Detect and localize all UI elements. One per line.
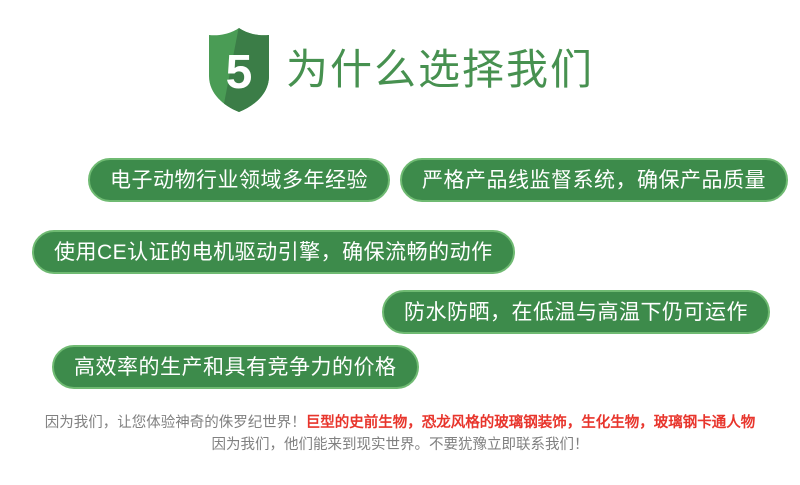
- feature-pill: 严格产品线监督系统，确保产品质量: [400, 158, 788, 202]
- footer-line-2: 因为我们，他们能来到现实世界。不要犹豫立即联系我们！: [0, 434, 800, 456]
- promo-banner: 5 为什么选择我们 电子动物行业领域多年经验 严格产品线监督系统，确保产品质量 …: [0, 0, 800, 485]
- page-title: 为什么选择我们: [286, 49, 594, 91]
- footer-line-1-highlight: 巨型的史前生物，恐龙风格的玻璃钢装饰，生化生物，玻璃钢卡通人物: [306, 415, 756, 431]
- footer-line-1: 因为我们，让您体验神奇的侏罗纪世界！巨型的史前生物，恐龙风格的玻璃钢装饰，生化生…: [0, 412, 800, 434]
- footer-copy: 因为我们，让您体验神奇的侏罗纪世界！巨型的史前生物，恐龙风格的玻璃钢装饰，生化生…: [0, 412, 800, 456]
- feature-pill: 高效率的生产和具有竞争力的价格: [52, 345, 419, 389]
- feature-pill: 防水防晒，在低温与高温下仍可运作: [382, 290, 770, 334]
- banner-header: 5 为什么选择我们: [0, 24, 800, 116]
- feature-pill: 使用CE认证的电机驱动引擎，确保流畅的动作: [32, 230, 515, 274]
- feature-pill-list: 电子动物行业领域多年经验 严格产品线监督系统，确保产品质量 使用CE认证的电机驱…: [0, 150, 800, 395]
- shield-badge-number: 5: [226, 46, 253, 99]
- footer-line-1-prefix: 因为我们，让您体验神奇的侏罗纪世界！: [45, 415, 306, 431]
- shield-badge-icon: 5: [206, 26, 272, 114]
- feature-pill: 电子动物行业领域多年经验: [88, 158, 390, 202]
